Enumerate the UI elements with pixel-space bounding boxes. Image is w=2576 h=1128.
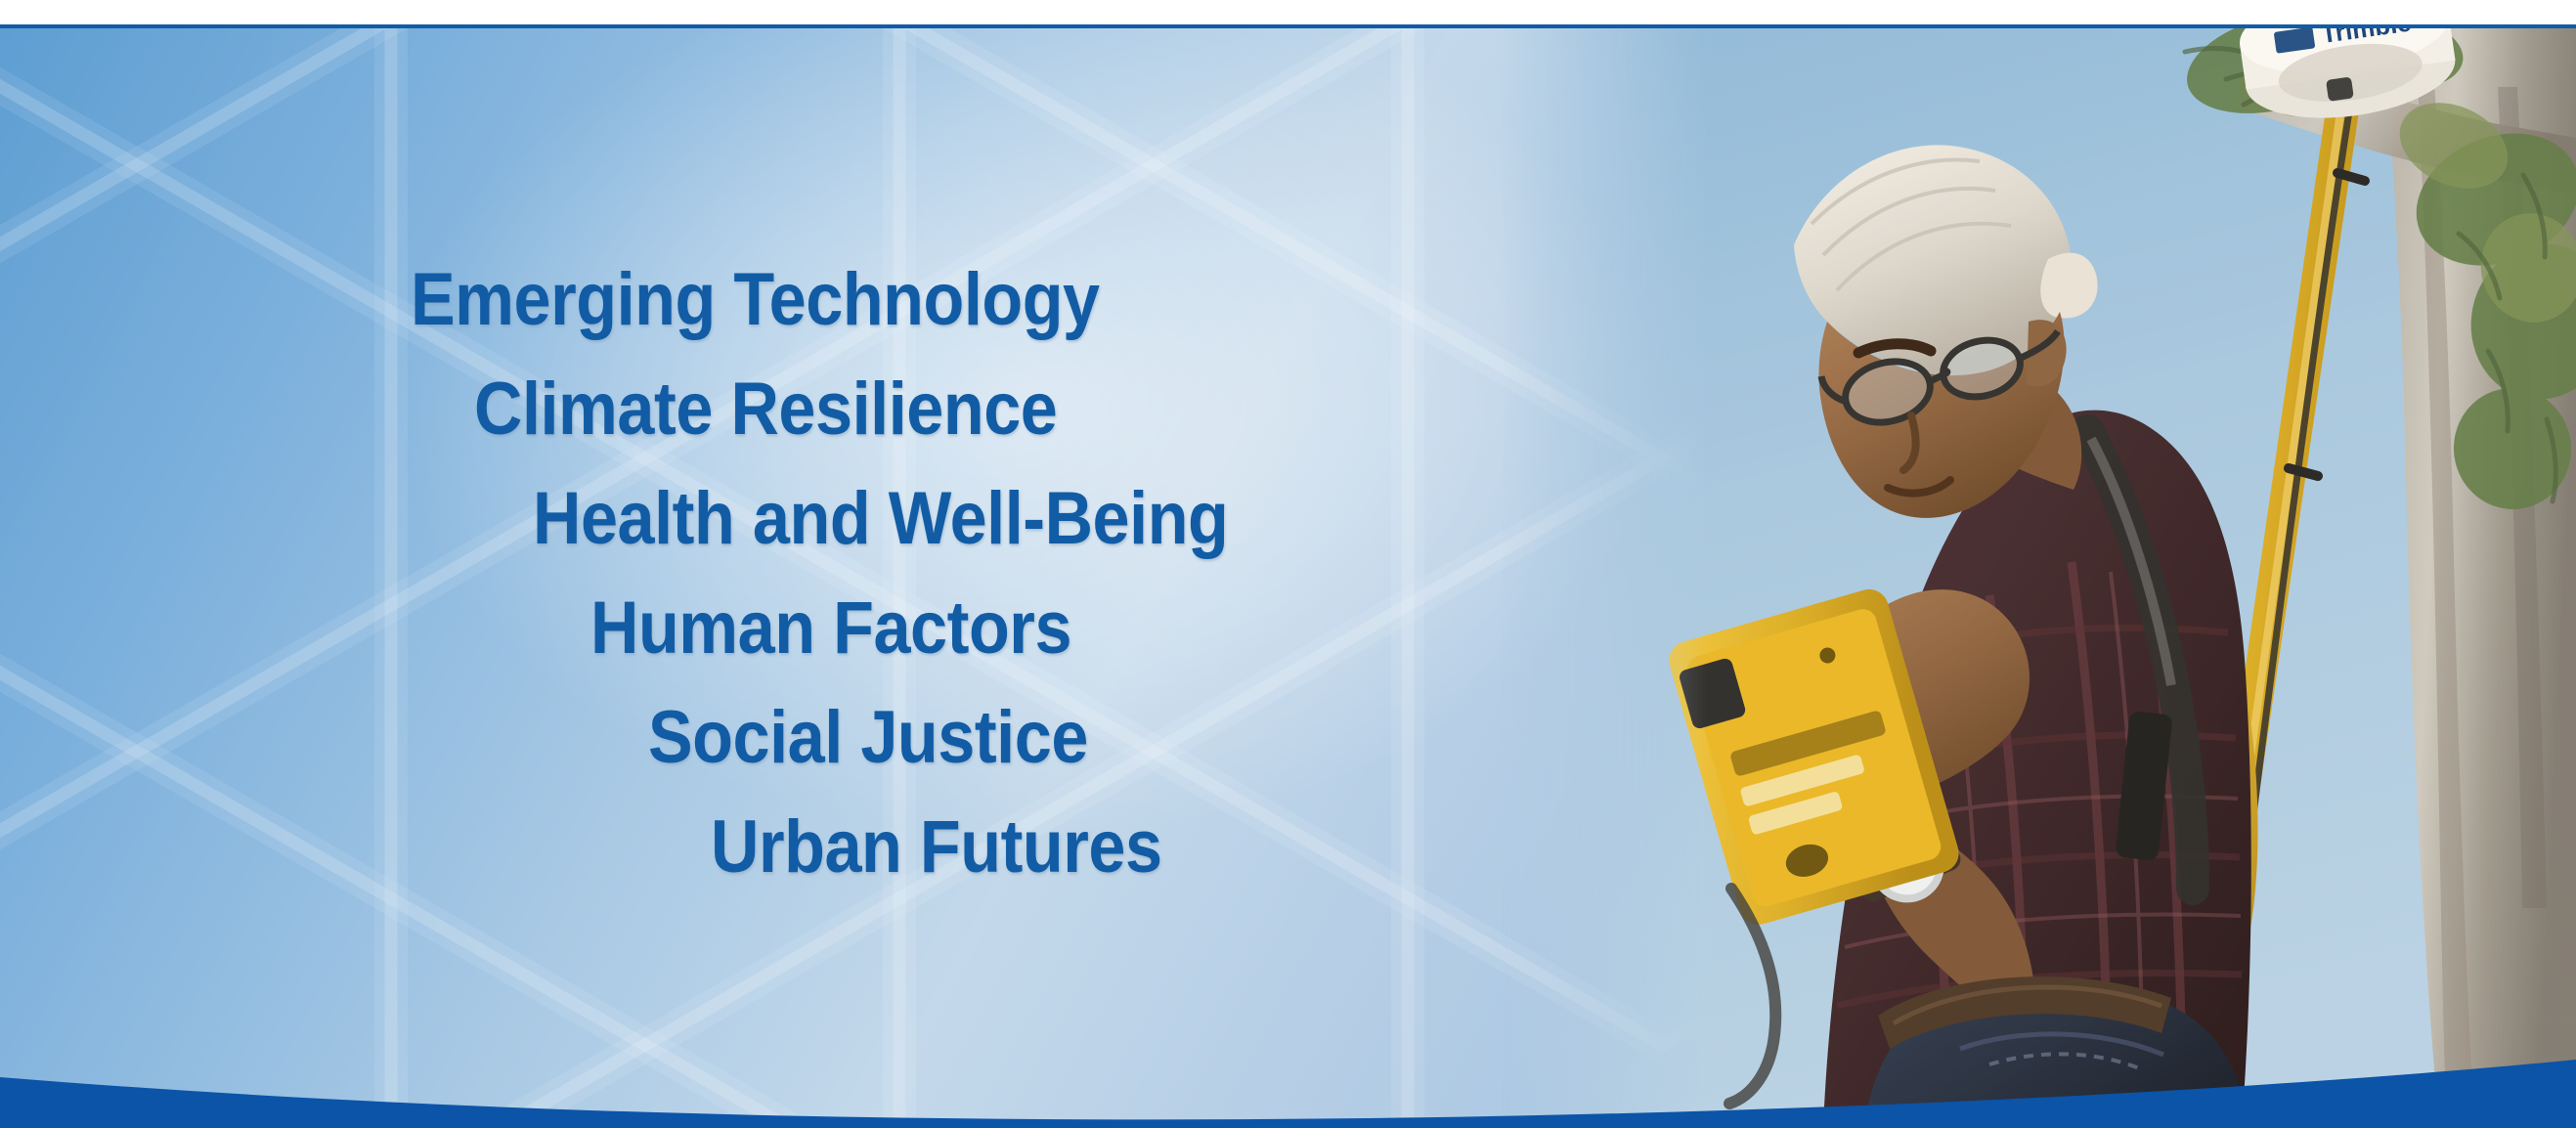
headline-social-justice: Social Justice xyxy=(648,683,1824,793)
top-rule-divider xyxy=(0,24,2576,28)
top-white-strip xyxy=(0,0,2576,24)
headline-climate-resilience: Climate Resilience xyxy=(474,355,1808,464)
hero-banner: Trimble xyxy=(0,0,2576,1128)
bottom-wave-divider xyxy=(0,1001,2576,1128)
headline-urban-futures: Urban Futures xyxy=(711,793,1831,902)
headline-emerging-technology: Emerging Technology xyxy=(411,245,1801,355)
headline-health-and-well-being: Health and Well-Being xyxy=(533,464,1813,574)
headline-stack: Emerging Technology Climate Resilience H… xyxy=(0,245,1955,902)
headline-human-factors: Human Factors xyxy=(590,574,1818,683)
banner-body: Trimble xyxy=(0,28,2576,1128)
